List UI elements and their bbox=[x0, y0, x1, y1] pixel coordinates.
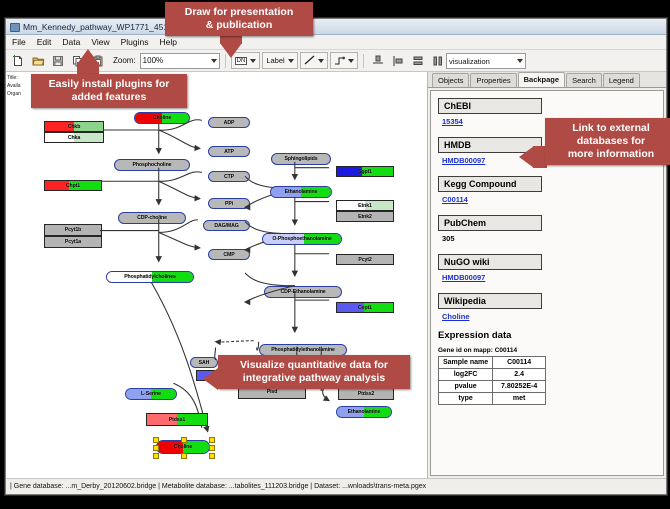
screenshot-root: Mm_Kennedy_pathway_WP1771_45176.gpml Fil… bbox=[0, 0, 670, 509]
selection-handle[interactable] bbox=[153, 437, 159, 443]
selection-handle[interactable] bbox=[153, 445, 159, 451]
callout-plugins: Easily install plugins for added feature… bbox=[31, 74, 187, 108]
title-bar: Mm_Kennedy_pathway_WP1771_45176.gpml bbox=[6, 19, 666, 35]
selection-handle[interactable] bbox=[181, 437, 187, 443]
line-tool-button[interactable] bbox=[300, 52, 328, 69]
chevron-down-icon bbox=[211, 59, 217, 63]
database-value-kegg-compound[interactable]: C00114 bbox=[442, 195, 656, 204]
node-label: Sgpl1 bbox=[358, 169, 372, 175]
callout-draw-line1: Draw for presentation bbox=[173, 6, 305, 19]
callout-links-line3: more information bbox=[553, 148, 669, 161]
metabolite-node-ptd_cholines[interactable]: Phosphatidylcholines bbox=[106, 271, 194, 283]
menu-view[interactable]: View bbox=[90, 37, 110, 47]
pathway-canvas[interactable]: Title: Availa Organ bbox=[6, 72, 428, 478]
node-label: L-Serine bbox=[141, 391, 161, 397]
node-label: Chka bbox=[68, 135, 80, 141]
status-text: | Gene database: ...m_Derby_20120602.bri… bbox=[10, 483, 426, 490]
label-tool-button[interactable]: Label bbox=[262, 52, 297, 69]
chevron-down-icon bbox=[288, 59, 294, 63]
metabolite-node-o_phosphoethanolamine[interactable]: O-Phosphoethanolamine bbox=[262, 233, 342, 245]
visualization-combobox[interactable]: visualization bbox=[446, 53, 526, 69]
gene-node-chkb[interactable]: Chkb bbox=[44, 121, 104, 132]
chevron-down-icon bbox=[250, 59, 256, 63]
pathvisio-window: Mm_Kennedy_pathway_WP1771_45176.gpml Fil… bbox=[5, 18, 667, 495]
menu-bar: File Edit Data View Plugins Help bbox=[6, 35, 666, 50]
expression-row: typemet bbox=[439, 393, 546, 405]
metabolite-node-l_serine_left[interactable]: L-Serine bbox=[125, 388, 177, 400]
callout-draw: Draw for presentation & publication bbox=[165, 2, 313, 36]
gene-node-cept1[interactable]: Cept1 bbox=[336, 302, 394, 313]
stack-horizontal-icon[interactable] bbox=[429, 52, 447, 70]
menu-edit[interactable]: Edit bbox=[36, 37, 53, 47]
gene-node-chka[interactable]: Chka bbox=[44, 132, 104, 143]
save-icon[interactable] bbox=[49, 52, 67, 70]
menu-data[interactable]: Data bbox=[61, 37, 81, 47]
callout-links: Link to external databases for more info… bbox=[545, 118, 670, 165]
menu-file[interactable]: File bbox=[11, 37, 27, 47]
expression-row: Sample nameC00114 bbox=[439, 357, 546, 369]
gene-id-line: Gene id on mapp: C00114 bbox=[438, 347, 656, 354]
selection-handle[interactable] bbox=[153, 453, 159, 459]
align-left-icon[interactable] bbox=[389, 52, 407, 70]
new-file-icon[interactable] bbox=[9, 52, 27, 70]
node-label: Choline bbox=[174, 444, 192, 450]
node-label: Pcyt1a bbox=[65, 239, 81, 245]
node-label: Pisd bbox=[267, 389, 278, 395]
node-label: CTP bbox=[224, 174, 234, 180]
callout-draw-arrow bbox=[220, 43, 242, 58]
node-label: Chkb bbox=[68, 124, 81, 130]
node-label: ATP bbox=[224, 149, 234, 155]
status-bar: | Gene database: ...m_Derby_20120602.bri… bbox=[6, 478, 666, 494]
metabolite-node-ethanolamine_right[interactable]: Ethanolamine bbox=[336, 406, 392, 418]
callout-visualize-line2: integrative pathway analysis bbox=[226, 372, 402, 385]
callout-visualize-arrow bbox=[203, 368, 218, 390]
node-label: Etnk2 bbox=[358, 214, 372, 220]
tab-objects[interactable]: Objects bbox=[432, 73, 469, 87]
callout-links-arrow bbox=[519, 146, 534, 168]
node-label: Cept1 bbox=[358, 305, 372, 311]
expression-label: type bbox=[439, 393, 493, 405]
database-header-nugo-wiki: NuGO wiki bbox=[438, 254, 542, 270]
database-value-wikipedia[interactable]: Choline bbox=[442, 312, 656, 321]
database-header-pubchem: PubChem bbox=[438, 215, 542, 231]
node-label: Phosphatidylcholines bbox=[124, 274, 176, 280]
chevron-down-icon bbox=[348, 59, 354, 63]
menu-plugins[interactable]: Plugins bbox=[120, 37, 150, 47]
callout-links-line2: databases for bbox=[553, 135, 669, 148]
open-folder-icon[interactable] bbox=[29, 52, 47, 70]
zoom-label: Zoom: bbox=[113, 56, 136, 65]
chevron-down-icon bbox=[318, 59, 324, 63]
expression-label: Sample name bbox=[439, 357, 493, 369]
database-header-kegg-compound: Kegg Compound bbox=[438, 176, 542, 192]
app-icon bbox=[10, 22, 19, 31]
node-label: Choline bbox=[153, 115, 171, 121]
zoom-value: 100% bbox=[143, 56, 163, 65]
node-label: DAG/MAG bbox=[214, 223, 238, 229]
connector-tool-button[interactable] bbox=[330, 52, 358, 69]
callout-plugins-arrow bbox=[77, 49, 99, 64]
database-value-nugo-wiki[interactable]: HMDB00097 bbox=[442, 273, 656, 282]
tab-legend[interactable]: Legend bbox=[603, 73, 640, 87]
node-label: Ethanolamine bbox=[348, 409, 381, 415]
expression-label: pvalue bbox=[439, 381, 493, 393]
callout-plugins-line1: Easily install plugins for bbox=[39, 78, 179, 91]
tab-backpage[interactable]: Backpage bbox=[518, 72, 565, 87]
stack-vertical-icon[interactable] bbox=[409, 52, 427, 70]
expression-table: Sample nameC00114log2FC2.4pvalue7.80252E… bbox=[438, 356, 546, 405]
toolbar: Zoom: 100% DN Label bbox=[6, 50, 666, 72]
callout-plugins-line2: added features bbox=[39, 91, 179, 104]
label-tool-label: Label bbox=[266, 56, 284, 65]
visualization-value: visualization bbox=[449, 57, 490, 66]
connector-icon bbox=[334, 55, 345, 67]
callout-visualize-line1: Visualize quantitative data for bbox=[226, 359, 402, 372]
node-label: ADP bbox=[224, 120, 235, 126]
gene-node-chpt1[interactable]: Chpt1 bbox=[44, 180, 102, 191]
expression-row: pvalue7.80252E-4 bbox=[439, 381, 546, 393]
database-header-wikipedia: Wikipedia bbox=[438, 293, 542, 309]
node-label: Phosphatidylethanolamine bbox=[271, 347, 335, 353]
node-label: O-Phosphoethanolamine bbox=[272, 236, 331, 242]
gene-node-sgpl1[interactable]: Sgpl1 bbox=[336, 166, 394, 177]
node-label: CMP bbox=[223, 252, 234, 258]
expression-label: log2FC bbox=[439, 369, 493, 381]
gene-node-etnk1[interactable]: Etnk1 bbox=[336, 200, 394, 211]
gene-node-ptdss1[interactable]: Ptdss1 bbox=[146, 413, 208, 426]
node-label: Sphingolipids bbox=[285, 156, 318, 162]
callout-draw-line2: & publication bbox=[173, 19, 305, 32]
expression-value: 2.4 bbox=[493, 369, 546, 381]
selection-handle[interactable] bbox=[209, 453, 215, 459]
node-label: CDP-choline bbox=[137, 215, 167, 221]
expression-value: C00114 bbox=[493, 357, 546, 369]
chevron-down-icon bbox=[517, 59, 523, 63]
node-label: Phosphocholine bbox=[133, 162, 172, 168]
selection-handle[interactable] bbox=[209, 445, 215, 451]
toolbar-separator bbox=[363, 54, 364, 68]
node-label: Pcyt2 bbox=[358, 257, 371, 263]
metabolite-node-ethanolamine[interactable]: Ethanolamine bbox=[270, 186, 332, 198]
expression-row: log2FC2.4 bbox=[439, 369, 546, 381]
panel-tabs: Objects Properties Backpage Search Legen… bbox=[428, 72, 666, 88]
tab-search[interactable]: Search bbox=[566, 73, 602, 87]
tab-properties[interactable]: Properties bbox=[470, 73, 516, 87]
metabolite-node-choline_top[interactable]: Choline bbox=[134, 112, 190, 124]
node-label: CDP-Ethanolamine bbox=[280, 289, 325, 295]
node-label: Ethanolamine bbox=[285, 189, 318, 195]
database-header-chebi: ChEBI bbox=[438, 98, 542, 114]
node-label: Pcyt1b bbox=[65, 227, 81, 233]
callout-visualize: Visualize quantitative data for integrat… bbox=[218, 355, 410, 389]
menu-help[interactable]: Help bbox=[159, 37, 178, 47]
node-label: Chpt1 bbox=[66, 183, 80, 189]
node-label: Ptdss2 bbox=[358, 391, 374, 397]
node-label: Ptdss1 bbox=[169, 417, 185, 423]
zoom-combobox[interactable]: 100% bbox=[140, 53, 220, 69]
callout-links-line1: Link to external bbox=[553, 122, 669, 135]
node-label: SAH bbox=[199, 360, 210, 366]
line-icon bbox=[304, 55, 315, 67]
node-label: Etnk1 bbox=[358, 203, 372, 209]
expression-value: 7.80252E-4 bbox=[493, 381, 546, 393]
database-value-pubchem: 305 bbox=[442, 234, 656, 243]
expression-data-heading: Expression data bbox=[438, 330, 656, 341]
align-top-icon[interactable] bbox=[369, 52, 387, 70]
selection-handle[interactable] bbox=[209, 437, 215, 443]
selection-handle[interactable] bbox=[181, 453, 187, 459]
node-label: PPi bbox=[225, 201, 233, 207]
expression-value: met bbox=[493, 393, 546, 405]
